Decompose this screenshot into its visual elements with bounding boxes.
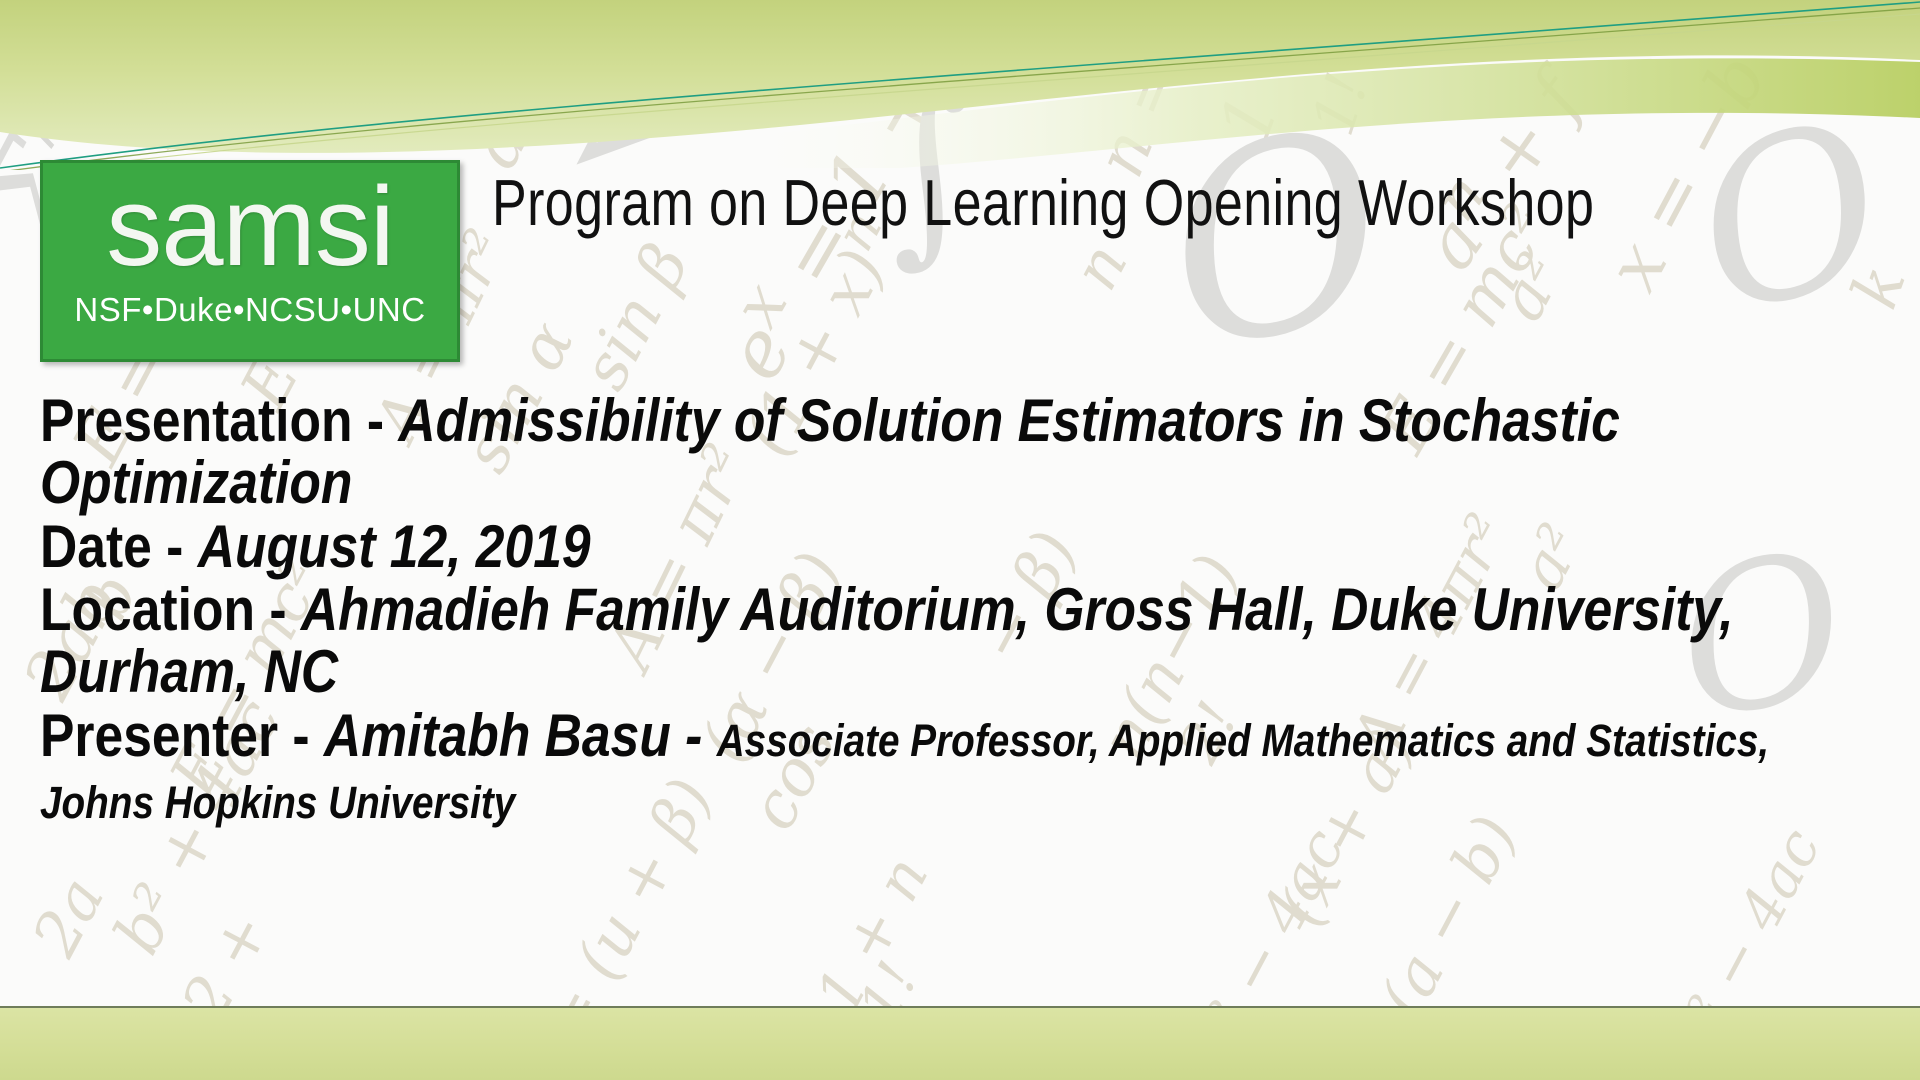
event-details: Presentation - Admissibility of Solution… — [40, 390, 1890, 829]
presenter-label: Presenter - — [40, 702, 310, 769]
date-label: Date - — [40, 513, 183, 580]
presenter-name: Amitabh Basu - — [324, 702, 702, 769]
detail-row-location: Location - Ahmadieh Family Auditorium, G… — [40, 579, 1872, 703]
location-label: Location - — [40, 576, 287, 643]
detail-row-presentation: Presentation - Admissibility of Solution… — [40, 390, 1872, 514]
presentation-label: Presentation - — [40, 387, 384, 454]
detail-row-date: Date - August 12, 2019 — [40, 516, 1872, 578]
page-title: Program on Deep Learning Opening Worksho… — [492, 168, 1788, 238]
detail-row-presenter: Presenter - Amitabh Basu - Associate Pro… — [40, 705, 1872, 829]
location-value: Ahmadieh Family Auditorium, Gross Hall, … — [40, 576, 1734, 705]
date-value: August 12, 2019 — [198, 513, 591, 580]
slide-canvas: Σ k=0 Σ k=0 a₀ Σ ex = 1 + x ∫ n = 1 1 + … — [0, 0, 1920, 1080]
samsi-partners-label: NSF•Duke•NCSU•UNC — [74, 293, 425, 326]
samsi-wordmark: samsi — [106, 171, 393, 283]
samsi-logo: samsi NSF•Duke•NCSU•UNC — [40, 160, 460, 362]
slide-content: samsi NSF•Duke•NCSU•UNC Program on Deep … — [0, 0, 1920, 1080]
